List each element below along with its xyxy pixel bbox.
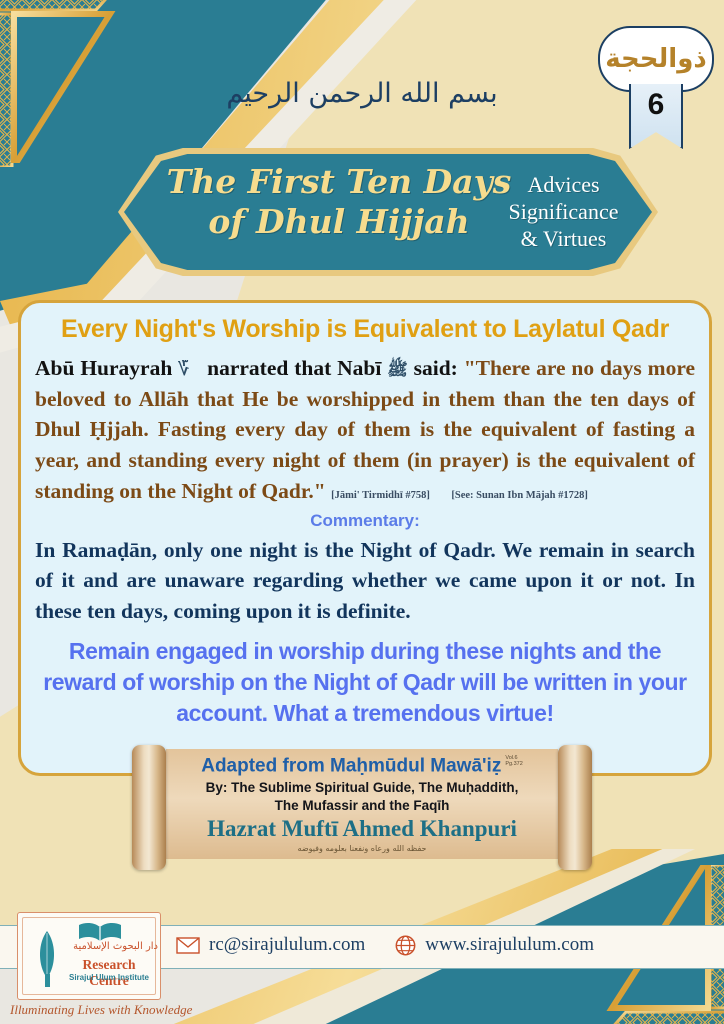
subtitle-line-advices: Advices: [491, 172, 636, 199]
subtitle-line-significance: Significance: [491, 199, 636, 226]
attribution-scroll: Adapted from Maḥmūdul Mawā'iẓ Vol.6 Pg.3…: [128, 745, 596, 870]
poster-root: بسم الله الرحمن الرحيم ذوالحجة 6 The Fir…: [0, 0, 724, 1024]
narrator-name: Abū Hurayrah: [35, 356, 172, 380]
citation-secondary: [See: Sunan Ibn Mājah #1728]: [451, 490, 588, 501]
poster-subtitle: Advices Significance & Virtues: [491, 172, 636, 252]
adapted-from-line: Adapted from Maḥmūdul Mawā'iẓ Vol.6 Pg.3…: [178, 755, 546, 778]
companion-honorific-icon: ؆: [178, 360, 189, 380]
card-heading: Every Night's Worship is Equivalent to L…: [31, 315, 699, 344]
month-badge: ذوالحجة 6: [598, 26, 710, 92]
globe-icon: [395, 935, 416, 956]
title-banner: The First Ten Days of Dhul Hijjah Advice…: [118, 148, 658, 276]
subtitle-line-virtues: & Virtues: [491, 226, 636, 253]
day-number: 6: [648, 88, 665, 122]
hadith-said: said:: [414, 356, 458, 380]
scholar-name: Hazrat Muftī Ahmed Khanpuri: [178, 816, 546, 842]
hadith-text: Abū Hurayrah ؆ narrated that Nabī ﷺ said…: [35, 353, 695, 507]
commentary-text: In Ramaḍān, only one night is the Night …: [35, 535, 695, 627]
scholar-dua: حفظه الله ورعاه ونفعنا بعلومه وفيوضه: [178, 844, 546, 853]
citation-primary: [Jāmi' Tirmidhī #758]: [331, 490, 430, 501]
contact-row: rc@sirajululum.com www.sirajululum.com: [176, 934, 594, 956]
highlight-text: Remain engaged in worship during these n…: [33, 636, 697, 729]
tagline: Illuminating Lives with Knowledge: [10, 1002, 192, 1018]
open-book-icon: [76, 921, 124, 943]
quill-pen-icon: [30, 929, 64, 989]
content-card: Every Night's Worship is Equivalent to L…: [18, 300, 712, 776]
hadith-connector: narrated that Nabī: [207, 356, 381, 380]
byline-line-1: By: The Sublime Spiritual Guide, The Muḥ…: [178, 780, 546, 796]
website-text[interactable]: www.sirajululum.com: [425, 934, 594, 956]
month-badge-pill: ذوالحجة: [598, 26, 714, 92]
email-text[interactable]: rc@sirajululum.com: [209, 934, 365, 956]
scroll-content: Adapted from Maḥmūdul Mawā'iẓ Vol.6 Pg.3…: [178, 755, 546, 853]
commentary-label: Commentary:: [21, 511, 709, 531]
month-name-arabic: ذوالحجة: [605, 46, 706, 72]
page-label: Pg.372: [505, 761, 522, 767]
research-centre-logo: دار البحوث الإسلامية Research Centre Sir…: [17, 912, 161, 1000]
logo-arabic-name: دار البحوث الإسلامية: [66, 941, 158, 952]
byline-line-2: The Mufassir and the Faqīh: [178, 798, 546, 814]
logo-institute: Sirajul Ulum Institute: [60, 973, 158, 982]
scroll-roller-left: [132, 745, 166, 870]
volume-page-note: Vol.6 Pg.372: [505, 755, 522, 768]
prophet-honorific-icon: ﷺ: [387, 360, 408, 380]
scroll-roller-right: [558, 745, 592, 870]
volume-label: Vol.6: [505, 755, 517, 761]
poster-title: The First Ten Days of Dhul Hijjah: [144, 162, 534, 243]
adapted-from-title: Adapted from Maḥmūdul Mawā'iẓ: [201, 756, 501, 777]
envelope-icon: [176, 937, 200, 954]
